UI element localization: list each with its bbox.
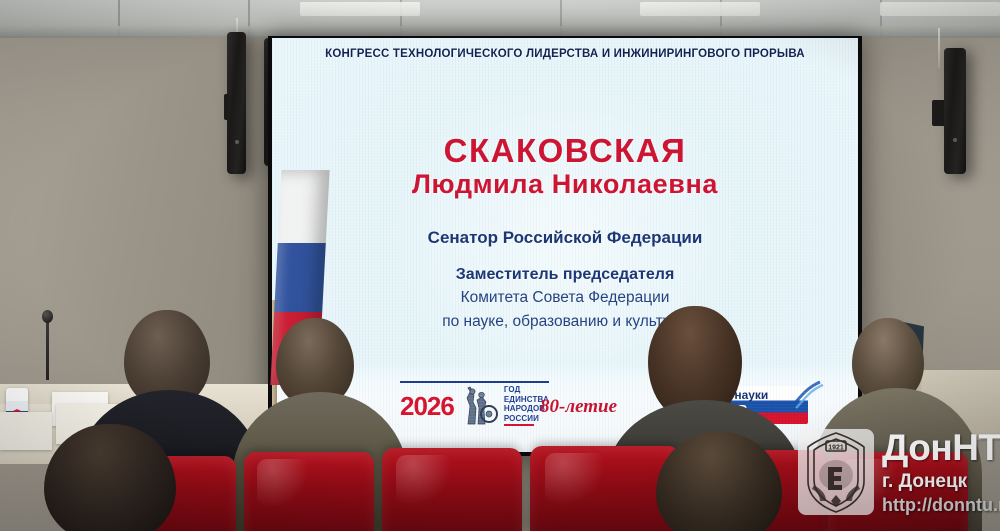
table-microphone-stem bbox=[46, 318, 49, 380]
seat[interactable] bbox=[244, 452, 374, 531]
donntu-city: г. Донецк bbox=[882, 471, 967, 493]
table-microphone-head bbox=[42, 310, 53, 323]
name-card bbox=[0, 412, 52, 450]
seat-highlight bbox=[545, 453, 605, 506]
speaker-led-icon bbox=[235, 140, 239, 144]
donntu-watermark: 1921 ДонНТУ г. Донецк http://donntu.ru bbox=[796, 419, 996, 529]
donntu-emblem-icon: 1921 bbox=[798, 429, 874, 515]
ceiling-lamp bbox=[300, 2, 420, 16]
led-pixel-overlay bbox=[272, 38, 858, 452]
donntu-url[interactable]: http://donntu.ru bbox=[882, 495, 1000, 516]
donntu-name: ДонНТУ bbox=[882, 429, 1000, 466]
seat-highlight bbox=[257, 459, 309, 508]
presentation-screen: КОНГРЕСС ТЕХНОЛОГИЧЕСКОГО ЛИДЕРСТВА И ИН… bbox=[272, 38, 858, 452]
ceiling-lamp bbox=[640, 2, 760, 16]
speaker-led-icon bbox=[953, 138, 957, 142]
wall-speaker-right-1 bbox=[944, 48, 966, 174]
speaker-notch bbox=[224, 94, 229, 120]
wall-speaker-left-1 bbox=[227, 32, 246, 174]
svg-text:1921: 1921 bbox=[828, 445, 844, 452]
speaker-cable bbox=[938, 28, 940, 68]
seat[interactable] bbox=[382, 448, 522, 531]
conference-hall-scene: КОНГРЕСС ТЕХНОЛОГИЧЕСКОГО ЛИДЕРСТВА И ИН… bbox=[0, 0, 1000, 531]
seat-highlight bbox=[396, 455, 452, 507]
ceiling-lamp bbox=[880, 2, 1000, 16]
